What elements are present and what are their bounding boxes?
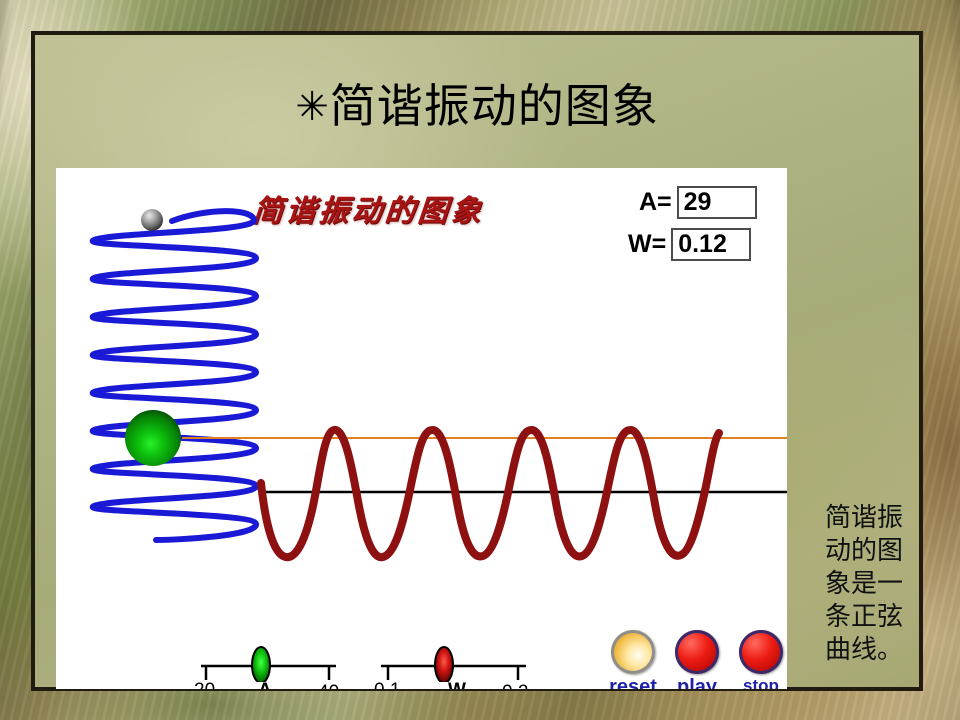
frequency-max-label: 0.2	[502, 682, 528, 689]
amplitude-slider-track[interactable]	[196, 640, 341, 682]
transport-buttons: reset play stop	[608, 630, 786, 689]
amplitude-slider[interactable]: 20 A 40	[196, 640, 341, 687]
stop-button-icon[interactable]	[739, 630, 783, 674]
frequency-min-label: 0.1	[374, 680, 400, 689]
slide-frame: ✳简谐振动的图象 简谐振动的图象是一条正弦曲线。 简谐振动的图象 A= 29 W…	[31, 31, 923, 691]
sine-curve	[261, 430, 719, 557]
frequency-slider-track[interactable]	[376, 640, 531, 682]
simulation-applet-panel: 简谐振动的图象 A= 29 W= 0.12	[56, 168, 787, 689]
amplitude-max-label: 40	[318, 682, 339, 689]
stop-button[interactable]: stop	[736, 630, 786, 689]
slide-background: ✳简谐振动的图象 简谐振动的图象是一条正弦曲线。 简谐振动的图象 A= 29 W…	[0, 0, 960, 720]
frequency-slider-label: W	[448, 680, 466, 689]
reset-button-label: reset	[608, 676, 658, 689]
asterisk-icon: ✳	[295, 84, 330, 130]
play-button[interactable]: play	[672, 630, 722, 689]
sine-wave-graph	[56, 168, 787, 689]
play-button-label: play	[672, 676, 722, 689]
side-caption: 简谐振动的图象是一条正弦曲线。	[825, 501, 927, 666]
play-button-icon[interactable]	[675, 630, 719, 674]
page-title-text: 简谐振动的图象	[330, 81, 659, 132]
reset-button[interactable]: reset	[608, 630, 658, 689]
page-title: ✳简谐振动的图象	[35, 83, 919, 131]
amplitude-min-label: 20	[194, 680, 215, 689]
reset-button-icon[interactable]	[611, 630, 655, 674]
frequency-slider[interactable]: 0.1 W 0.2	[376, 640, 531, 687]
amplitude-slider-label: A	[258, 680, 272, 689]
stop-button-label: stop	[736, 676, 786, 689]
